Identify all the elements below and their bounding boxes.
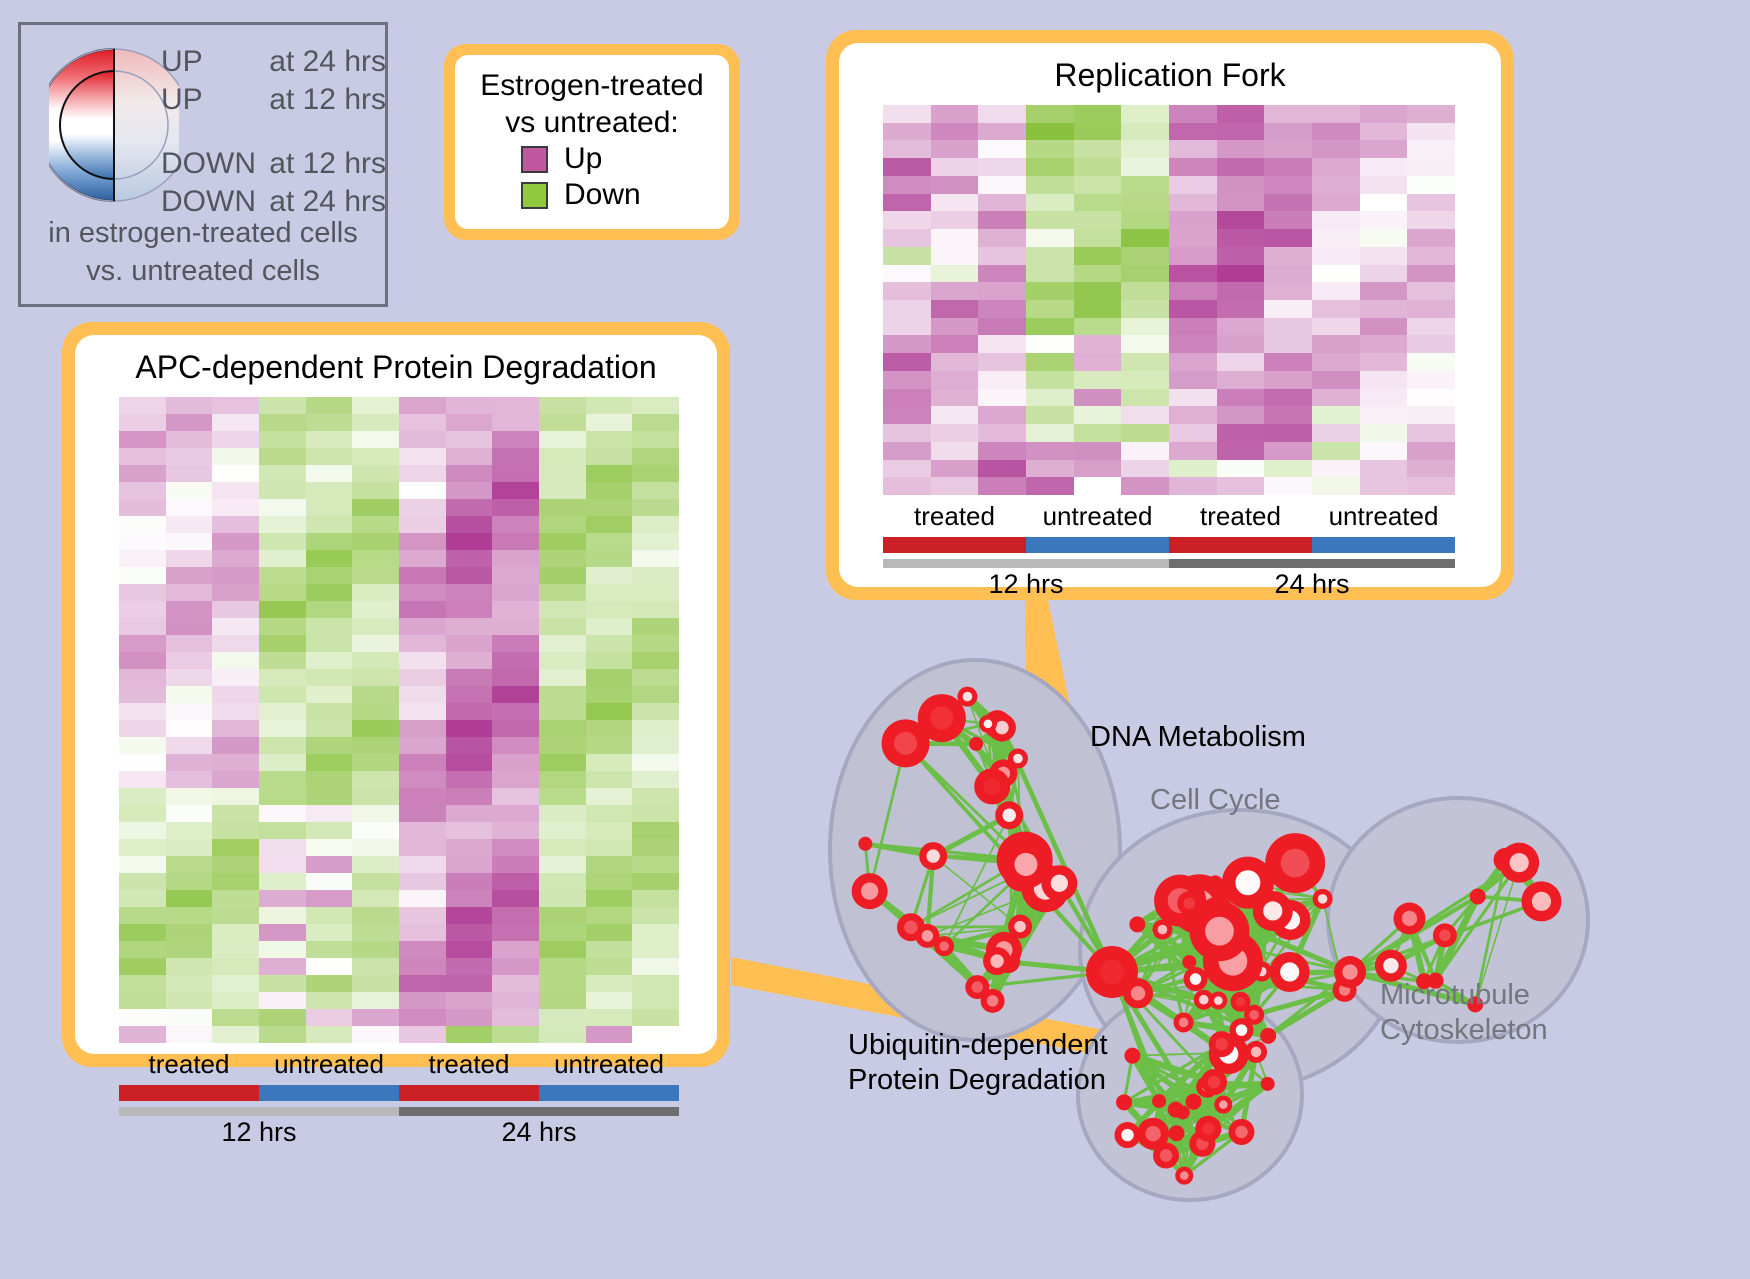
node-inner-fill xyxy=(1235,1126,1247,1138)
node-outer-ring xyxy=(1152,1094,1166,1108)
network-node[interactable] xyxy=(1176,1105,1190,1119)
node-outer-ring xyxy=(969,737,983,751)
node-inner-fill xyxy=(1219,1100,1228,1109)
node-outer-ring xyxy=(1182,955,1196,969)
network-node[interactable] xyxy=(1116,1094,1132,1110)
network-node[interactable] xyxy=(1393,902,1425,934)
node-outer-ring xyxy=(1116,1094,1132,1110)
node-outer-ring xyxy=(1129,916,1145,932)
network-node[interactable] xyxy=(915,924,939,948)
network-node[interactable] xyxy=(1186,1094,1202,1110)
network-node[interactable] xyxy=(1008,915,1032,939)
node-inner-fill xyxy=(1510,853,1529,872)
node-inner-fill xyxy=(1249,1010,1259,1020)
node-inner-fill xyxy=(1014,921,1026,933)
node-outer-ring xyxy=(1260,1028,1276,1044)
network-node[interactable] xyxy=(1265,833,1325,893)
node-outer-ring xyxy=(1168,1125,1184,1141)
node-inner-fill xyxy=(1263,901,1282,920)
network-node[interactable] xyxy=(969,737,983,751)
network-node[interactable] xyxy=(1375,950,1407,982)
node-inner-fill xyxy=(984,720,993,729)
network-node[interactable] xyxy=(1334,956,1366,988)
network-node[interactable] xyxy=(1175,1167,1193,1185)
node-inner-fill xyxy=(1205,917,1234,946)
node-inner-fill xyxy=(1214,996,1223,1005)
network-node[interactable] xyxy=(995,801,1023,829)
node-inner-fill xyxy=(1235,870,1260,895)
node-outer-ring xyxy=(1207,875,1223,891)
node-outer-ring xyxy=(1470,888,1486,904)
network-diagram: DNA Metabolism Cell Cycle Microtubule Cy… xyxy=(790,620,1750,1279)
network-node[interactable] xyxy=(1194,990,1214,1010)
node-inner-fill xyxy=(1251,1047,1262,1058)
node-inner-fill xyxy=(1402,911,1417,926)
node-inner-fill xyxy=(990,954,1003,967)
network-node[interactable] xyxy=(1313,889,1333,909)
network-node[interactable] xyxy=(1499,843,1539,883)
node-outer-ring xyxy=(1261,1077,1275,1091)
network-node[interactable] xyxy=(1008,749,1028,769)
node-inner-fill xyxy=(1160,1149,1172,1161)
network-node[interactable] xyxy=(1174,1012,1194,1032)
network-node[interactable] xyxy=(858,837,872,851)
node-inner-fill xyxy=(987,995,999,1007)
node-inner-fill xyxy=(984,778,1001,795)
node-inner-fill xyxy=(930,707,953,730)
node-inner-fill xyxy=(1131,986,1145,1000)
node-inner-fill xyxy=(1342,964,1357,979)
node-outer-ring xyxy=(1186,1094,1202,1110)
network-node[interactable] xyxy=(1201,1069,1227,1095)
cluster-label-cell-cycle: Cell Cycle xyxy=(1150,783,1281,818)
node-inner-fill xyxy=(1236,1024,1248,1036)
network-node[interactable] xyxy=(1168,1125,1184,1141)
network-node[interactable] xyxy=(1182,955,1196,969)
network-node[interactable] xyxy=(1253,891,1293,931)
node-inner-fill xyxy=(1190,973,1202,985)
node-inner-fill xyxy=(1145,1126,1160,1141)
node-inner-fill xyxy=(1014,853,1037,876)
node-inner-fill xyxy=(1002,809,1015,822)
network-node[interactable] xyxy=(1433,923,1457,947)
node-inner-fill xyxy=(1439,930,1451,942)
node-inner-fill xyxy=(1208,1076,1220,1088)
network-node[interactable] xyxy=(957,687,977,707)
node-inner-fill xyxy=(1100,960,1125,985)
network-node[interactable] xyxy=(1129,916,1145,932)
network-svg xyxy=(790,620,1750,1279)
network-node[interactable] xyxy=(1228,1119,1254,1145)
node-inner-fill xyxy=(1281,849,1310,878)
node-inner-fill xyxy=(1280,962,1299,981)
cluster-label-microtubule-cytoskeleton: Microtubule Cytoskeleton xyxy=(1380,978,1548,1048)
network-node[interactable] xyxy=(1184,967,1208,991)
node-inner-fill xyxy=(927,849,940,862)
network-node[interactable] xyxy=(974,768,1010,804)
cluster-label-ubiquitin-degradation: Ubiquitin-dependent Protein Degradation xyxy=(848,1028,1118,1098)
node-inner-fill xyxy=(1121,1129,1133,1141)
node-inner-fill xyxy=(904,921,917,934)
cluster-label-dna-metabolism: DNA Metabolism xyxy=(1090,720,1306,755)
node-inner-fill xyxy=(1236,997,1246,1007)
network-node[interactable] xyxy=(1470,888,1486,904)
network-node[interactable] xyxy=(1245,1041,1267,1063)
node-inner-fill xyxy=(922,930,934,942)
node-inner-fill xyxy=(1202,1122,1214,1134)
network-node[interactable] xyxy=(919,842,947,870)
network-node[interactable] xyxy=(1209,1031,1235,1057)
node-inner-fill xyxy=(1013,754,1023,764)
node-inner-fill xyxy=(939,941,949,951)
node-inner-fill xyxy=(1318,894,1328,904)
node-inner-fill xyxy=(1383,958,1398,973)
node-inner-fill xyxy=(995,721,1008,734)
network-node[interactable] xyxy=(1261,1077,1275,1091)
network-node[interactable] xyxy=(882,719,930,767)
network-node[interactable] xyxy=(852,873,888,909)
network-node[interactable] xyxy=(981,989,1005,1013)
node-inner-fill xyxy=(894,732,917,755)
network-node[interactable] xyxy=(979,715,997,733)
node-outer-ring xyxy=(858,837,872,851)
network-node[interactable] xyxy=(1195,1116,1221,1142)
node-inner-fill xyxy=(1179,1018,1189,1028)
node-inner-fill xyxy=(1183,897,1195,909)
network-node[interactable] xyxy=(1152,1094,1166,1108)
node-inner-fill xyxy=(1215,1038,1227,1050)
node-inner-fill xyxy=(1180,1171,1189,1180)
node-inner-fill xyxy=(1158,925,1168,935)
network-node[interactable] xyxy=(1177,891,1201,915)
node-inner-fill xyxy=(963,692,973,702)
figure-root: UP at 24 hrs UP at 12 hrs DOWN at 12 hrs… xyxy=(0,0,1750,1279)
network-node[interactable] xyxy=(1521,881,1561,921)
network-node[interactable] xyxy=(1207,875,1223,891)
node-inner-fill xyxy=(1199,995,1209,1005)
network-node[interactable] xyxy=(1270,952,1310,992)
network-node[interactable] xyxy=(1124,1048,1140,1064)
network-node[interactable] xyxy=(1260,1028,1276,1044)
node-outer-ring xyxy=(1124,1048,1140,1064)
network-node[interactable] xyxy=(1153,1143,1179,1169)
network-node[interactable] xyxy=(983,947,1011,975)
network-node[interactable] xyxy=(1114,1122,1140,1148)
node-outer-ring xyxy=(1176,1105,1190,1119)
network-node[interactable] xyxy=(1041,865,1077,901)
network-node[interactable] xyxy=(1214,1096,1232,1114)
node-inner-fill xyxy=(1532,892,1551,911)
node-inner-fill xyxy=(1051,875,1068,892)
node-inner-fill xyxy=(861,883,878,900)
node-inner-fill xyxy=(972,981,984,993)
network-node[interactable] xyxy=(1086,946,1138,998)
